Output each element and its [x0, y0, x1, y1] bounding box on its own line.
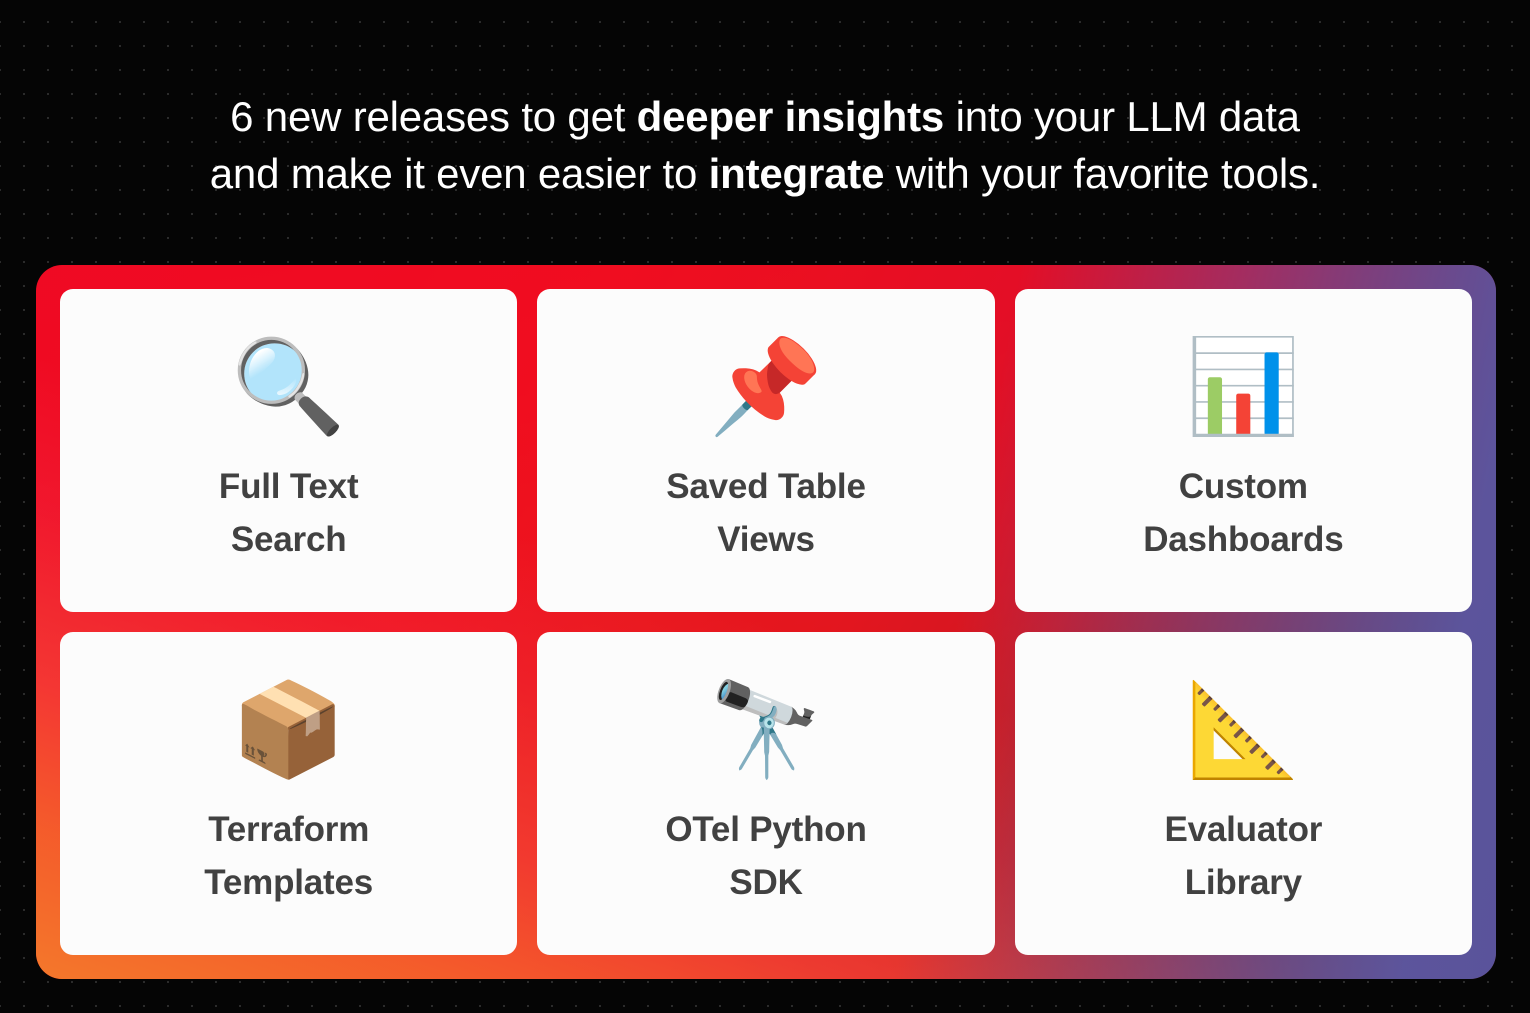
feature-card-otel-python-sdk[interactable]: 🔭 OTel Python SDK — [537, 632, 994, 955]
magnifying-glass-icon: 🔍 — [231, 332, 346, 442]
headline-line-1: 6 new releases to get deeper insights in… — [0, 88, 1530, 145]
headline-line1-post: into your LLM data — [944, 93, 1300, 140]
feature-card-custom-dashboards[interactable]: 📊 Custom Dashboards — [1015, 289, 1472, 612]
headline-line-2: and make it even easier to integrate wit… — [0, 145, 1530, 202]
feature-card-label-line2: Search — [231, 520, 347, 559]
package-box-icon: 📦 — [231, 675, 346, 785]
pushpin-icon: 📌 — [709, 332, 824, 442]
feature-card-label: Full Text Search — [219, 460, 359, 566]
headline-line1-pre: 6 new releases to get — [230, 93, 637, 140]
feature-card-label-line1: Full Text — [219, 467, 359, 506]
feature-card-label-line1: Custom — [1179, 467, 1308, 506]
feature-card-label-line2: Library — [1185, 863, 1302, 902]
headline-line1-emphasis: deeper insights — [637, 93, 944, 140]
feature-card-evaluator-library[interactable]: 📐 Evaluator Library — [1015, 632, 1472, 955]
feature-card-terraform-templates[interactable]: 📦 Terraform Templates — [60, 632, 517, 955]
headline-line2-emphasis: integrate — [709, 150, 885, 197]
feature-card-label-line1: Saved Table — [666, 467, 865, 506]
feature-card-grid: 🔍 Full Text Search 📌 Saved Table Views 📊… — [60, 289, 1472, 955]
telescope-icon: 🔭 — [709, 675, 824, 785]
feature-card-label: OTel Python SDK — [665, 803, 866, 909]
triangular-ruler-icon: 📐 — [1186, 675, 1301, 785]
feature-grid-gradient-frame: 🔍 Full Text Search 📌 Saved Table Views 📊… — [36, 265, 1496, 979]
feature-card-label: Terraform Templates — [204, 803, 373, 909]
feature-card-label: Custom Dashboards — [1143, 460, 1343, 566]
feature-card-label-line2: Views — [717, 520, 815, 559]
feature-card-label: Evaluator Library — [1164, 803, 1322, 909]
feature-card-label-line1: Evaluator — [1164, 810, 1322, 849]
feature-card-saved-table-views[interactable]: 📌 Saved Table Views — [537, 289, 994, 612]
feature-card-label-line2: SDK — [729, 863, 802, 902]
page-headline: 6 new releases to get deeper insights in… — [0, 88, 1530, 202]
headline-line2-post: with your favorite tools. — [884, 150, 1320, 197]
feature-card-label-line2: Dashboards — [1143, 520, 1343, 559]
feature-card-full-text-search[interactable]: 🔍 Full Text Search — [60, 289, 517, 612]
feature-card-label: Saved Table Views — [666, 460, 865, 566]
feature-card-label-line1: Terraform — [208, 810, 369, 849]
headline-line2-pre: and make it even easier to — [210, 150, 709, 197]
feature-card-label-line2: Templates — [204, 863, 373, 902]
bar-chart-icon: 📊 — [1186, 332, 1301, 442]
feature-card-label-line1: OTel Python — [665, 810, 866, 849]
